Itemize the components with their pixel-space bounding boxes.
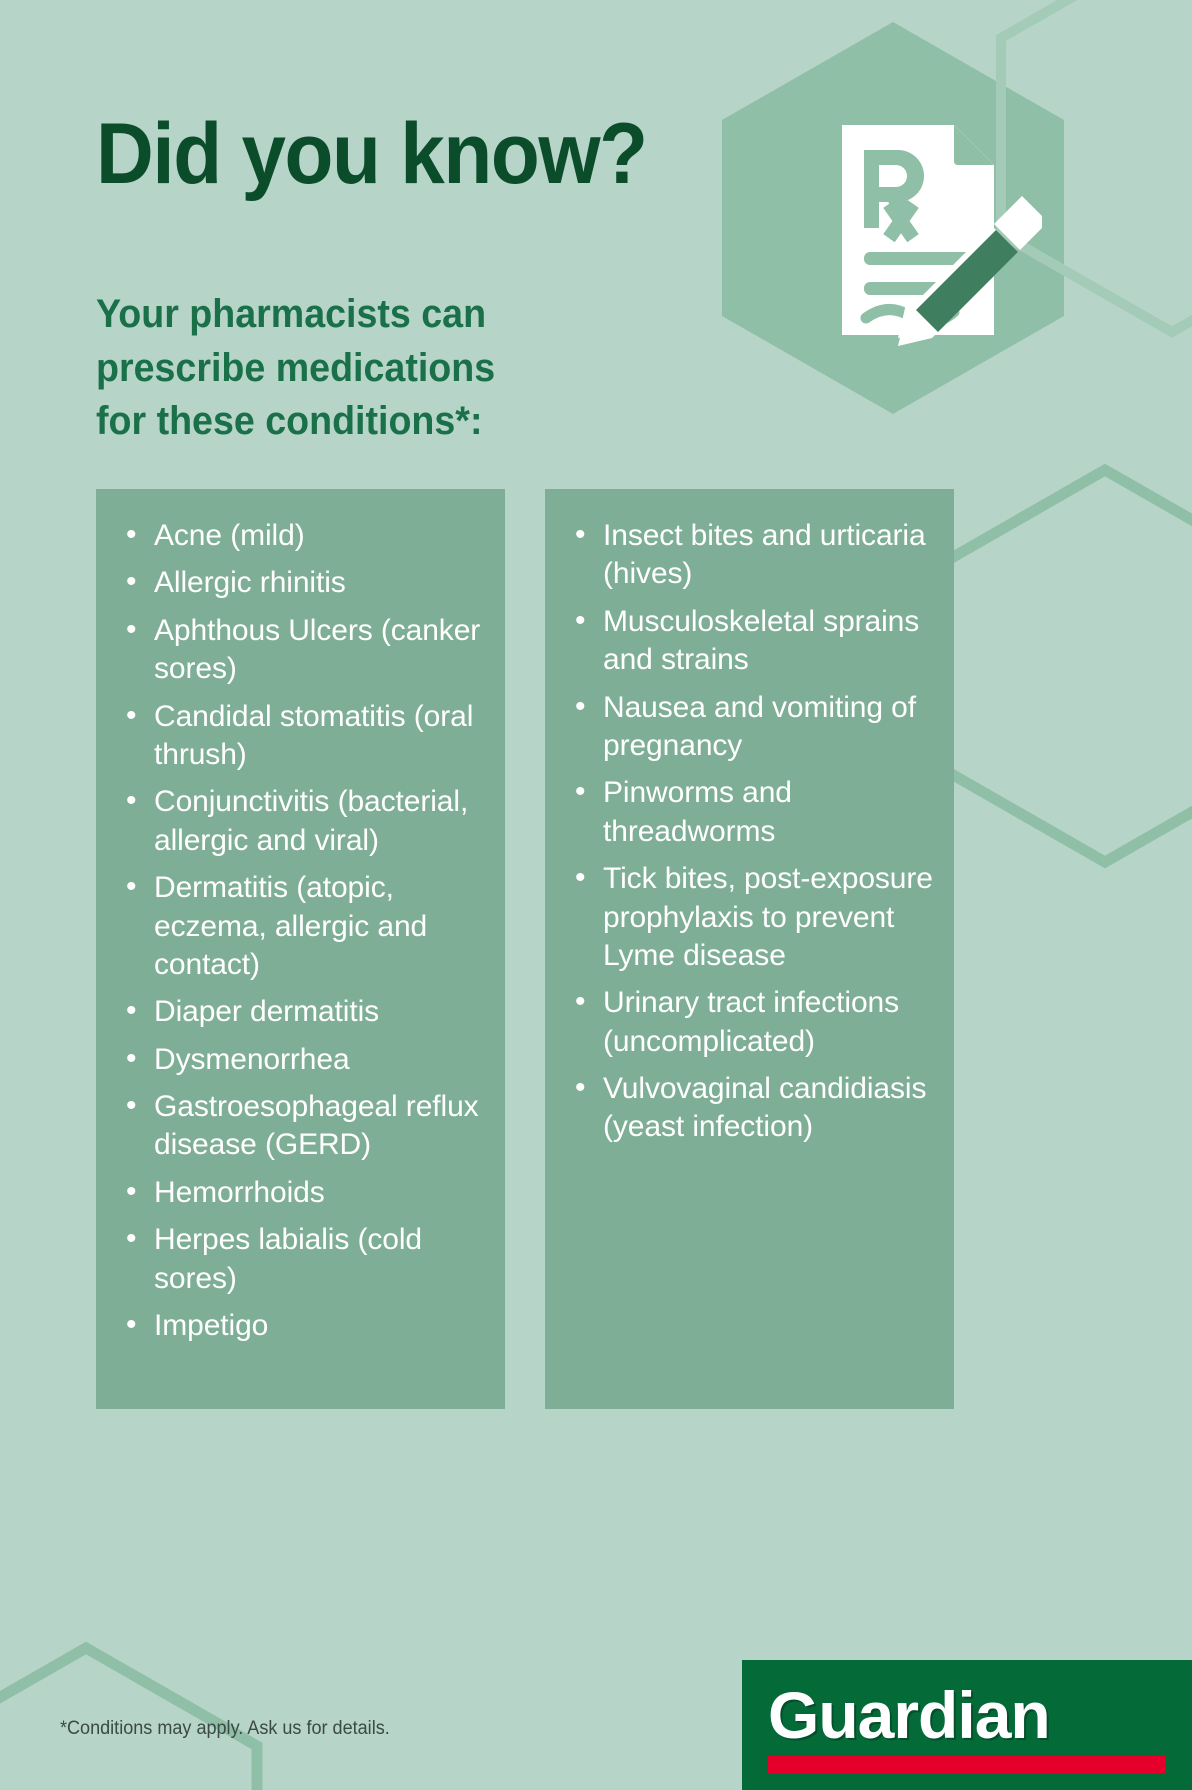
conditions-list-left: •Acne (mild)•Allergic rhinitis•Aphthous … [96,489,505,1345]
conditions-card-right: •Insect bites and urticaria (hives)•Musc… [545,489,954,1409]
guardian-logo: Guardian [742,1660,1192,1790]
condition-list-item: •Aphthous Ulcers (canker sores) [118,612,487,689]
conditions-card-left: •Acne (mild)•Allergic rhinitis•Aphthous … [96,489,505,1409]
bullet-icon: • [575,602,585,640]
condition-label: Musculoskeletal sprains and strains [603,605,919,676]
bullet-icon: • [126,1220,136,1258]
condition-list-item: •Pinworms and threadworms [567,774,936,851]
condition-label: Insect bites and urticaria (hives) [603,519,926,590]
bullet-icon: • [575,688,585,726]
rx-prescription-icon [742,30,1042,370]
condition-list-item: •Impetigo [118,1307,487,1345]
bullet-icon: • [575,773,585,811]
condition-list-item: •Candidal stomatitis (oral thrush) [118,698,487,775]
condition-list-item: •Herpes labialis (cold sores) [118,1221,487,1298]
footnote: *Conditions may apply. Ask us for detail… [60,1718,390,1740]
condition-list-item: •Vulvovaginal candidiasis (yeast infecti… [567,1070,936,1147]
condition-list-item: •Dysmenorrhea [118,1041,487,1079]
poster-canvas: Did you know? Your pharmacists can presc… [0,0,1192,1790]
condition-list-item: •Allergic rhinitis [118,564,487,602]
condition-label: Allergic rhinitis [154,566,346,599]
condition-label: Nausea and vomiting of pregnancy [603,691,916,762]
condition-label: Tick bites, post-exposure prophylaxis to… [603,862,933,972]
page-title: Did you know? [96,112,647,196]
subtitle-line-2: prescribe medications [96,342,495,396]
condition-label: Dysmenorrhea [154,1043,350,1076]
bullet-icon: • [126,1306,136,1344]
condition-list-item: •Dermatitis (atopic, eczema, allergic an… [118,869,487,984]
condition-list-item: •Gastroesophageal reflux disease (GERD) [118,1088,487,1165]
bullet-icon: • [126,782,136,820]
condition-list-item: •Acne (mild) [118,517,487,555]
condition-label: Dermatitis (atopic, eczema, allergic and… [154,871,427,981]
condition-list-item: •Nausea and vomiting of pregnancy [567,689,936,766]
condition-list-item: •Tick bites, post-exposure prophylaxis t… [567,860,936,975]
condition-list-item: •Conjunctivitis (bacterial, allergic and… [118,783,487,860]
subtitle-line-1: Your pharmacists can [96,288,495,342]
bullet-icon: • [126,563,136,601]
condition-list-item: •Insect bites and urticaria (hives) [567,517,936,594]
condition-label: Hemorrhoids [154,1176,325,1209]
condition-label: Aphthous Ulcers (canker sores) [154,614,480,685]
condition-label: Impetigo [154,1309,268,1342]
condition-label: Urinary tract infections (uncomplicated) [603,986,899,1057]
condition-label: Conjunctivitis (bacterial, allergic and … [154,785,468,856]
condition-list-item: •Urinary tract infections (uncomplicated… [567,984,936,1061]
bullet-icon: • [575,1069,585,1107]
condition-label: Candidal stomatitis (oral thrush) [154,700,473,771]
bullet-icon: • [575,859,585,897]
bullet-icon: • [575,983,585,1021]
bullet-icon: • [575,516,585,554]
bullet-icon: • [126,1087,136,1125]
conditions-list-right: •Insect bites and urticaria (hives)•Musc… [545,489,954,1147]
bullet-icon: • [126,611,136,649]
bullet-icon: • [126,1173,136,1211]
condition-label: Pinworms and threadworms [603,776,792,847]
logo-red-bar [768,1756,1166,1773]
condition-label: Herpes labialis (cold sores) [154,1223,422,1294]
bullet-icon: • [126,697,136,735]
condition-label: Gastroesophageal reflux disease (GERD) [154,1090,479,1161]
logo-wordmark: Guardian [768,1682,1050,1748]
bullet-icon: • [126,516,136,554]
condition-label: Diaper dermatitis [154,995,379,1028]
condition-label: Acne (mild) [154,519,305,552]
condition-list-item: •Diaper dermatitis [118,993,487,1031]
bullet-icon: • [126,868,136,906]
condition-label: Vulvovaginal candidiasis (yeast infectio… [603,1072,926,1143]
bullet-icon: • [126,1040,136,1078]
condition-list-item: •Musculoskeletal sprains and strains [567,603,936,680]
bullet-icon: • [126,992,136,1030]
subtitle-line-3: for these conditions*: [96,395,495,449]
page-subtitle: Your pharmacists can prescribe medicatio… [96,288,495,449]
condition-list-item: •Hemorrhoids [118,1174,487,1212]
